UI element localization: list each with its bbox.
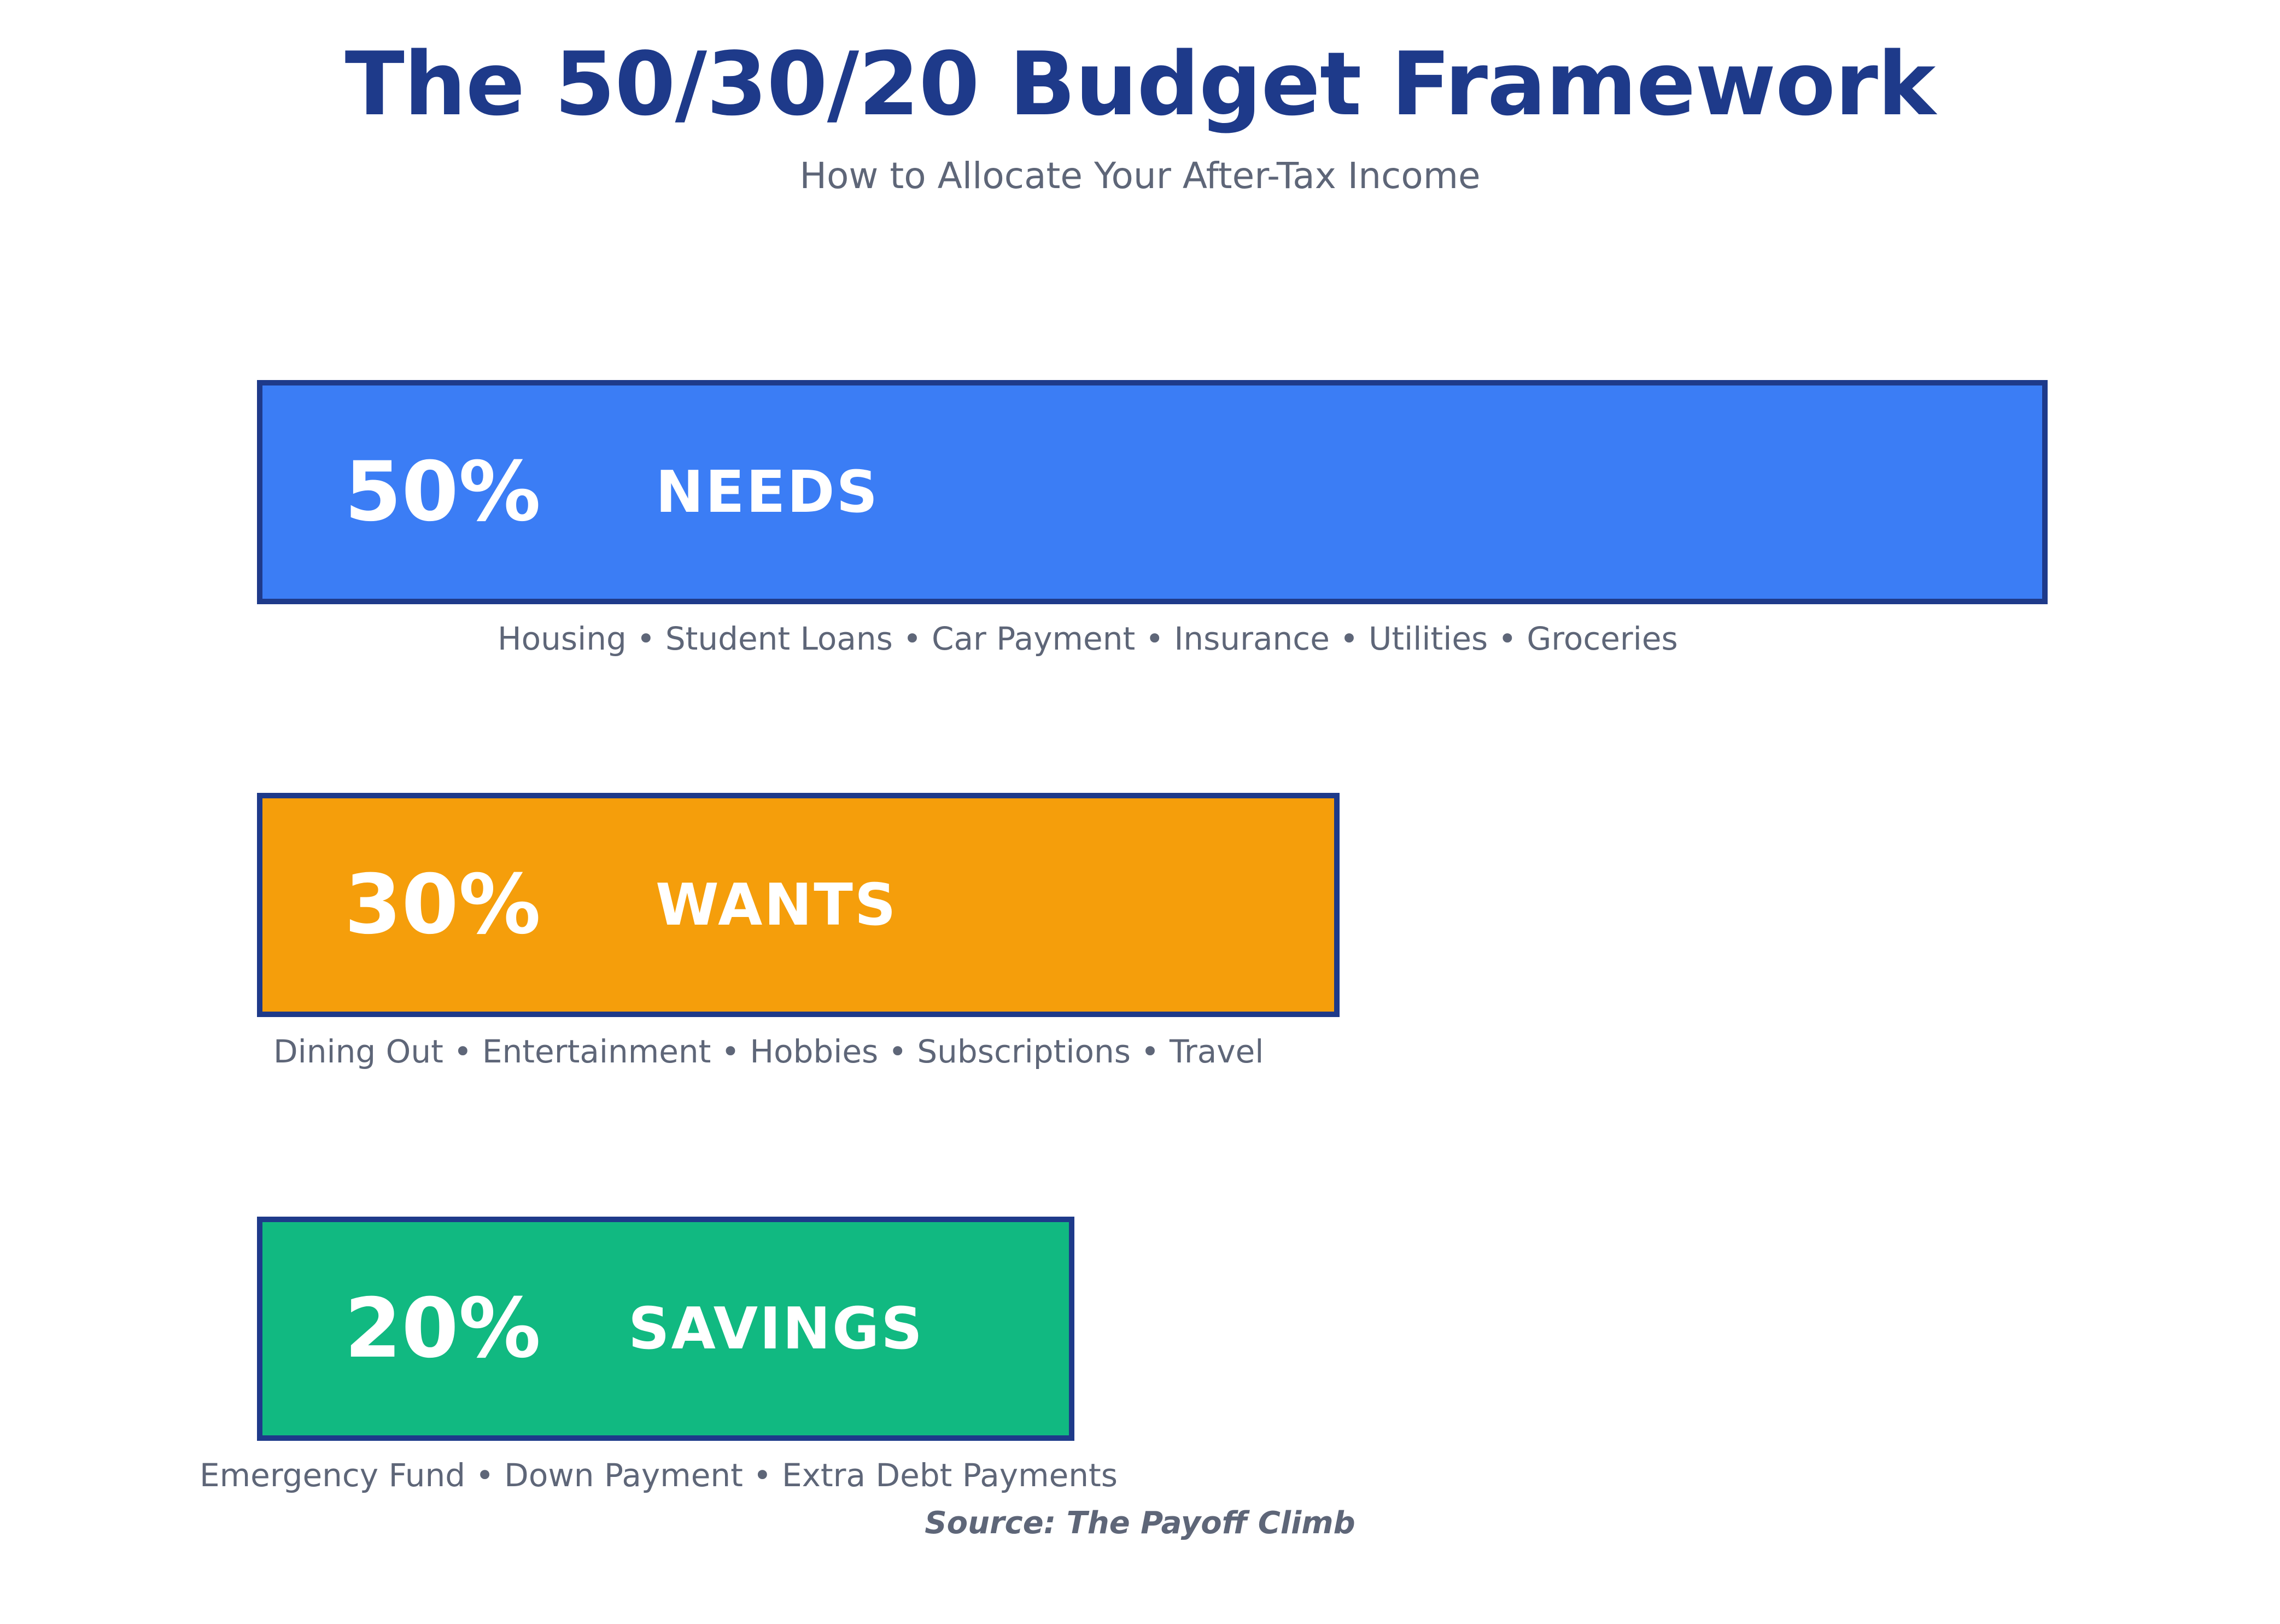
bar-savings-caption: Emergency Fund • Down Payment • Extra De… — [200, 1457, 1118, 1494]
bar-group-savings: 20% SAVINGS Emergency Fund • Down Paymen… — [257, 1217, 1118, 1494]
bar-needs-caption: Housing • Student Loans • Car Payment • … — [498, 621, 2048, 657]
bar-needs[interactable]: 50% NEEDS — [257, 380, 2048, 604]
bar-wants[interactable]: 30% WANTS — [257, 793, 1340, 1017]
bar-wants-percent: 30% — [344, 864, 541, 946]
bar-savings-percent: 20% — [344, 1288, 541, 1370]
bar-needs-label: NEEDS — [656, 464, 879, 521]
infographic-canvas: The 50/30/20 Budget Framework How to All… — [0, 0, 2280, 1624]
bar-group-needs: 50% NEEDS Housing • Student Loans • Car … — [257, 380, 2048, 657]
bar-chart: 50% NEEDS Housing • Student Loans • Car … — [0, 0, 2280, 1624]
bar-savings[interactable]: 20% SAVINGS — [257, 1217, 1074, 1441]
bar-savings-label: SAVINGS — [628, 1300, 924, 1358]
bar-wants-caption: Dining Out • Entertainment • Hobbies • S… — [273, 1033, 1340, 1070]
source-attribution: Source: The Payoff Climb — [0, 1506, 2280, 1540]
bar-group-wants: 30% WANTS Dining Out • Entertainment • H… — [257, 793, 1340, 1070]
bar-wants-label: WANTS — [656, 877, 898, 934]
bar-needs-percent: 50% — [344, 451, 541, 533]
